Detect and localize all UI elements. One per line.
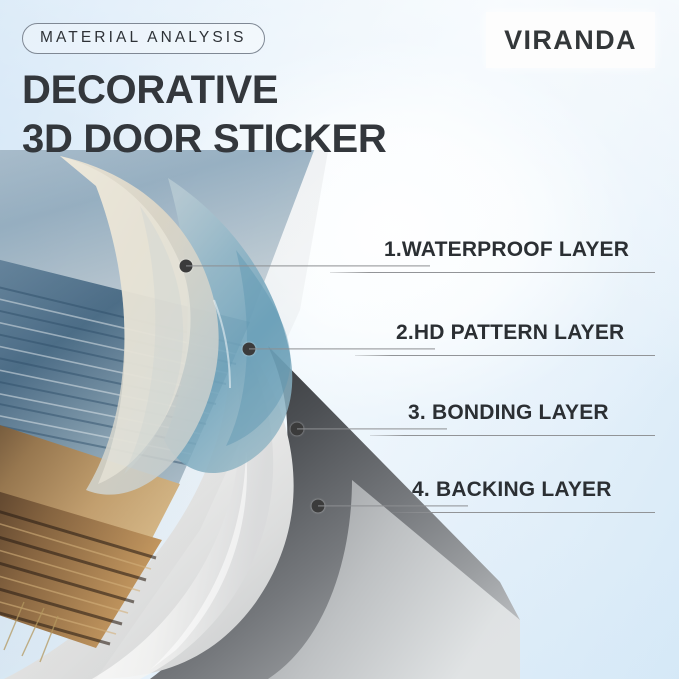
page-title-line-2: 3D DOOR STICKER [22,115,386,164]
callout-leader-line-2 [249,348,435,349]
eyebrow-badge: MATERIAL ANALYSIS [22,23,265,54]
callout-label-1: 1.WATERPROOF LAYER [384,238,629,262]
page-title-line-1: DECORATIVE [22,66,386,115]
callout-label-3: 3. BONDING LAYER [408,401,609,425]
callout-leader-line-3 [297,428,447,429]
callout-leader-line-1 [186,265,430,266]
callout-label-4: 4. BACKING LAYER [412,478,612,502]
page-title: DECORATIVE 3D DOOR STICKER [22,66,386,164]
callout-rule-3 [370,435,655,436]
callout-rule-4 [392,512,655,513]
callout-rule-2 [355,355,655,356]
callout-rule-1 [330,272,655,273]
brand-logo: VIRANDA [486,12,655,68]
infographic-canvas: MATERIAL ANALYSIS DECORATIVE 3D DOOR STI… [0,0,679,679]
brand-logo-text: VIRANDA [504,25,637,56]
callout-leader-line-4 [318,505,468,506]
callout-label-2: 2.HD PATTERN LAYER [396,321,624,345]
